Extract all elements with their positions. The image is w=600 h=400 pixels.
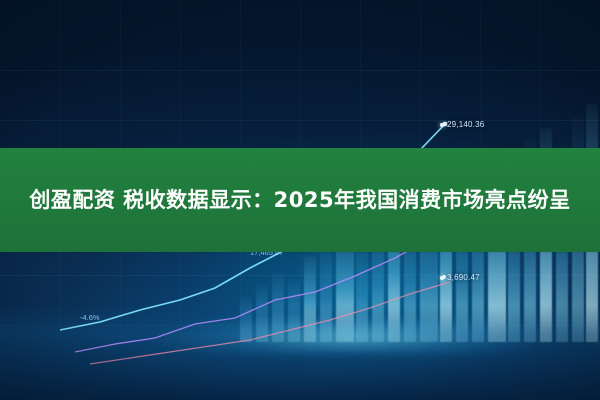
series-tertiary-line xyxy=(90,282,450,364)
page-title: 创盈配资 税收数据显示：2025年我国消费市场亮点纷呈 xyxy=(17,185,582,215)
value-label-3: 3,690.47 xyxy=(440,273,480,282)
value-dot-icon xyxy=(440,123,444,127)
headline-band: 创盈配资 税收数据显示：2025年我国消费市场亮点纷呈 xyxy=(0,148,600,252)
screenshot-stage: 29,140.36 19,580 3,690.47 -0.6% 17,465.6… xyxy=(0,0,600,400)
annotation-pct-2: -4.6% xyxy=(80,313,100,322)
value-label-1: 29,140.36 xyxy=(440,120,484,129)
value-dot-icon xyxy=(440,276,444,280)
